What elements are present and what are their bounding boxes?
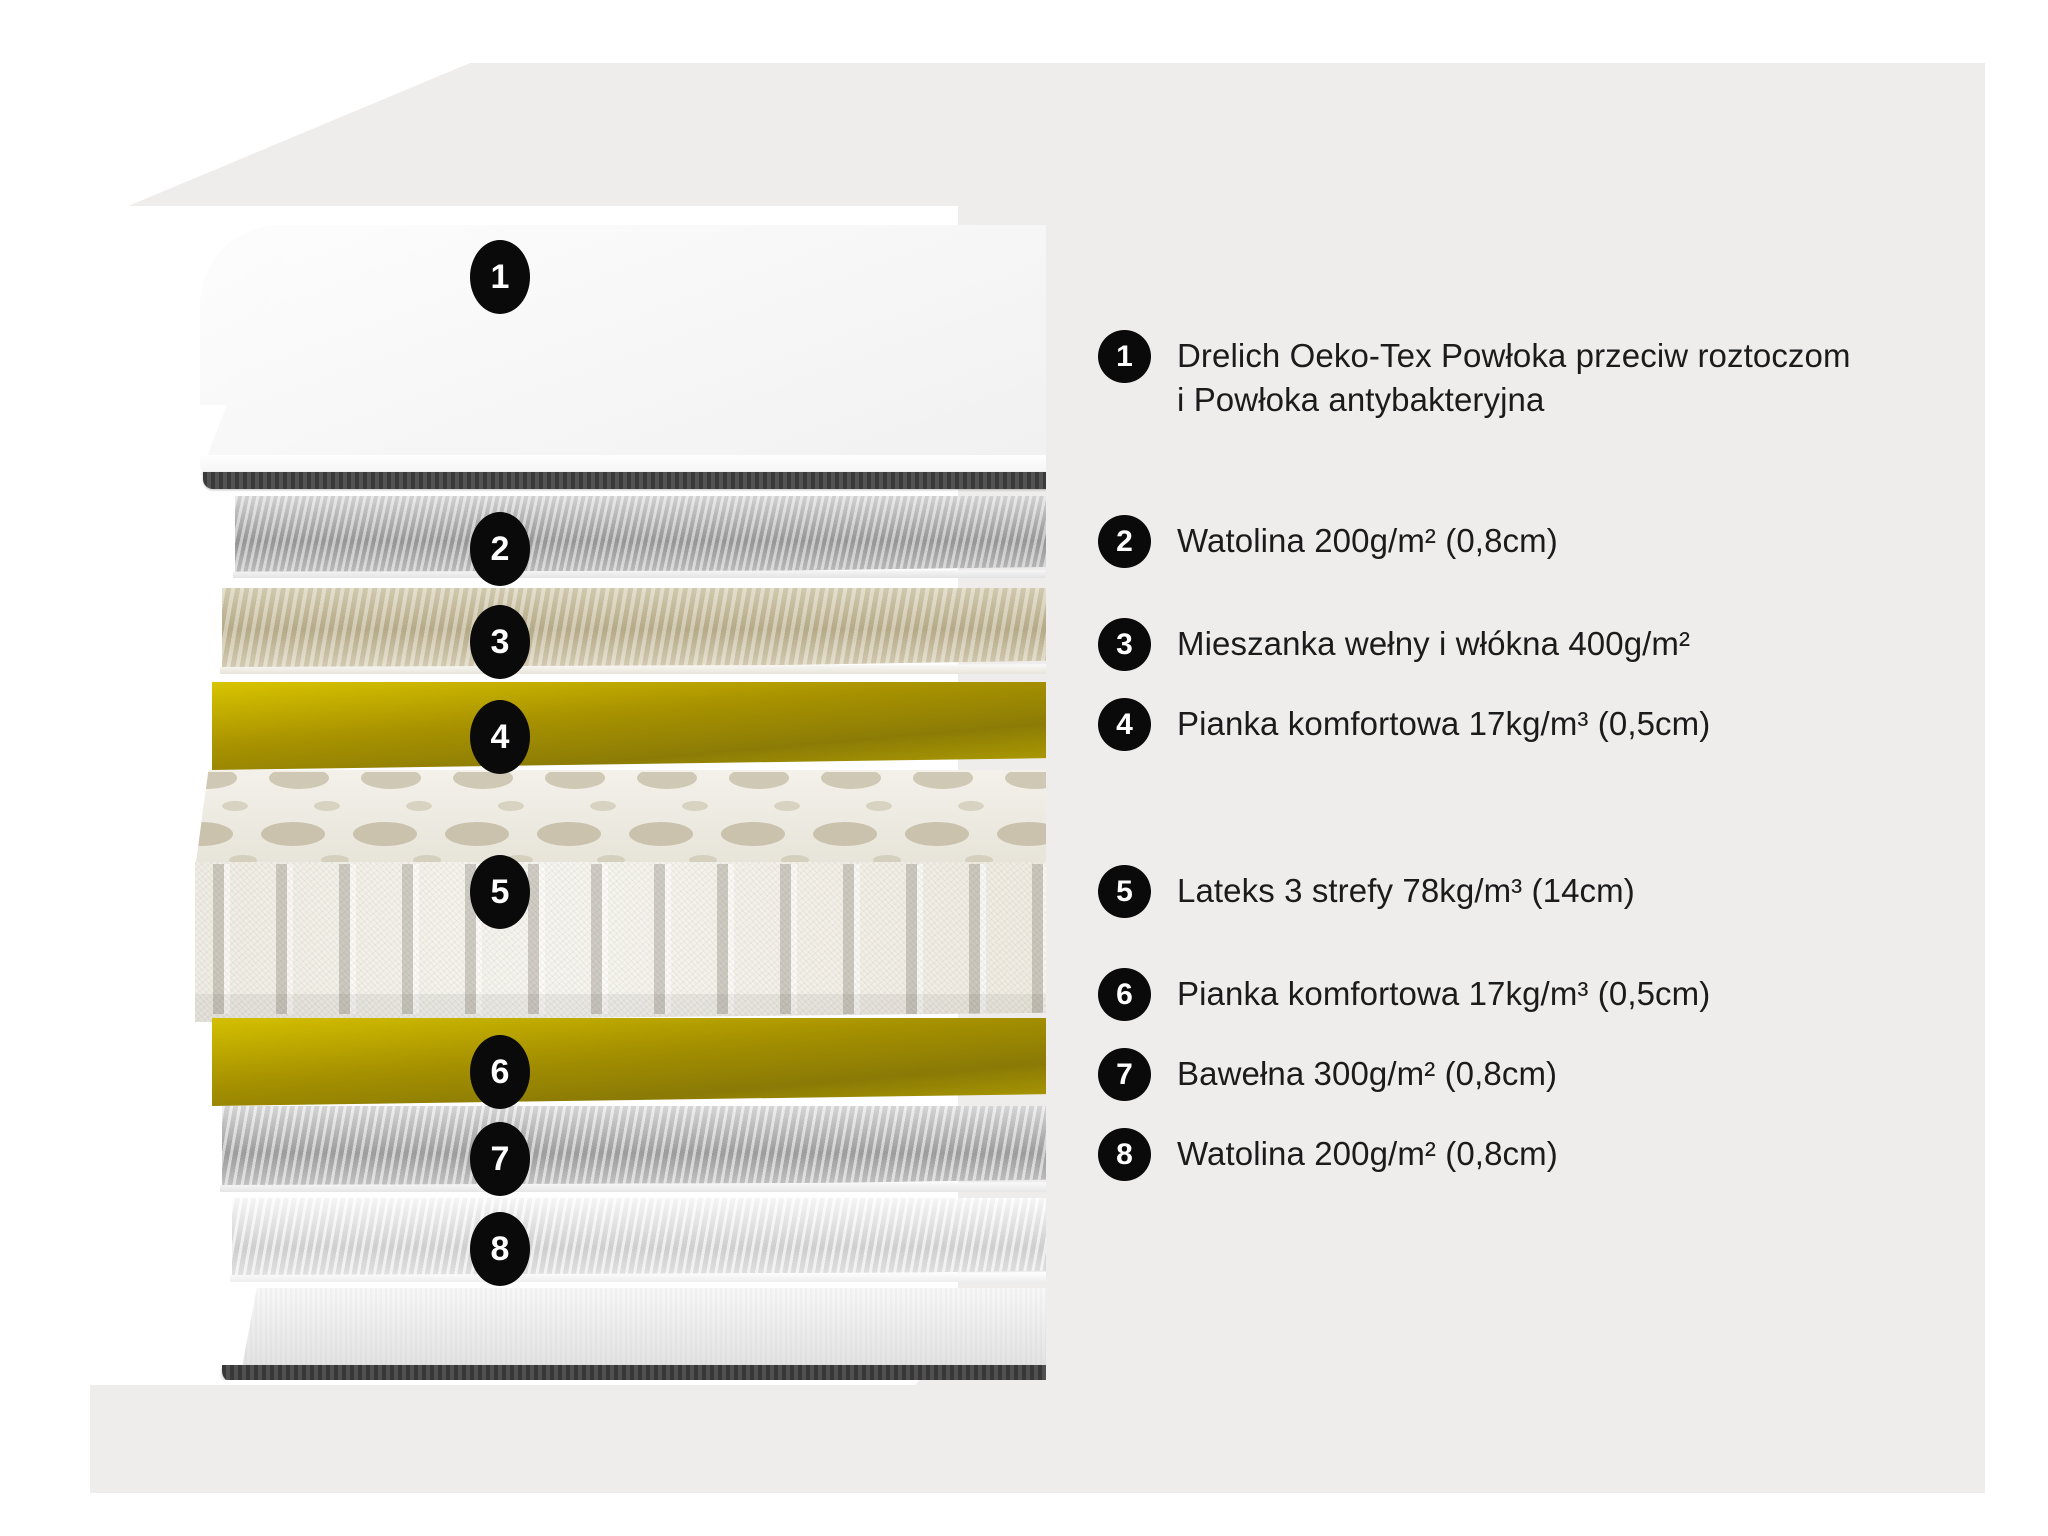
layer-badge-5[interactable]: 5 [470,855,530,929]
layer-3-wool-fibre [222,588,1046,674]
legend-item-3[interactable]: 3 Mieszanka wełny i włókna 400g/m² [1098,618,1690,671]
legend-label-6: Pianka komfortowa 17kg/m³ (0,5cm) [1177,968,1710,1016]
legend-badge-3: 3 [1098,618,1151,671]
legend-item-4[interactable]: 4 Pianka komfortowa 17kg/m³ (0,5cm) [1098,698,1710,751]
layer-5-latex-texture [195,862,1046,1022]
layer-badge-2[interactable]: 2 [470,512,530,586]
layer-7-cotton [222,1106,1046,1192]
legend-badge-8: 8 [1098,1128,1151,1181]
legend-label-2: Watolina 200g/m² (0,8cm) [1177,515,1558,563]
legend-badge-6: 6 [1098,968,1151,1021]
legend-label-8: Watolina 200g/m² (0,8cm) [1177,1128,1558,1176]
panel-bottom-bar [90,1385,1985,1493]
legend-badge-1: 1 [1098,330,1151,383]
legend-label-4: Pianka komfortowa 17kg/m³ (0,5cm) [1177,698,1710,746]
legend-item-1[interactable]: 1 Drelich Oeko-Tex Powłoka przeciw rozto… [1098,330,1851,421]
layer-badge-1[interactable]: 1 [470,240,530,314]
layer-badge-4[interactable]: 4 [470,700,530,774]
legend-badge-2: 2 [1098,515,1151,568]
layer-badge-6[interactable]: 6 [470,1035,530,1109]
legend-label-5: Lateks 3 strefy 78kg/m³ (14cm) [1177,865,1635,913]
bottom-cover-piping [222,1365,1046,1380]
layer-6-comfort-foam [212,1018,1046,1106]
legend-badge-7: 7 [1098,1048,1151,1101]
legend-badge-5: 5 [1098,865,1151,918]
legend-label-7: Bawełna 300g/m² (0,8cm) [1177,1048,1557,1096]
layer-1-cover-top [200,225,1046,475]
layer-2-wadding [235,496,1046,578]
layer-badge-7[interactable]: 7 [470,1122,530,1196]
layer-badge-3[interactable]: 3 [470,605,530,679]
layer-badge-8[interactable]: 8 [470,1212,530,1286]
layer-4-comfort-foam [212,682,1046,770]
layer-5-latex-pinholes [195,772,1046,870]
layer-8-wadding [232,1198,1046,1282]
legend-item-7[interactable]: 7 Bawełna 300g/m² (0,8cm) [1098,1048,1557,1101]
mattress-cutaway-illustration: 1 2 3 4 5 6 7 8 [0,0,1046,1380]
legend-item-2[interactable]: 2 Watolina 200g/m² (0,8cm) [1098,515,1558,568]
latex-pinhole-svg [195,772,1046,870]
legend-label-3: Mieszanka wełny i włókna 400g/m² [1177,618,1690,666]
legend-label-1: Drelich Oeko-Tex Powłoka przeciw roztocz… [1177,330,1851,421]
legend-item-5[interactable]: 5 Lateks 3 strefy 78kg/m³ (14cm) [1098,865,1635,918]
layer-1-cover-piping [203,472,1046,489]
legend-badge-4: 4 [1098,698,1151,751]
legend-item-8[interactable]: 8 Watolina 200g/m² (0,8cm) [1098,1128,1558,1181]
legend-item-6[interactable]: 6 Pianka komfortowa 17kg/m³ (0,5cm) [1098,968,1710,1021]
